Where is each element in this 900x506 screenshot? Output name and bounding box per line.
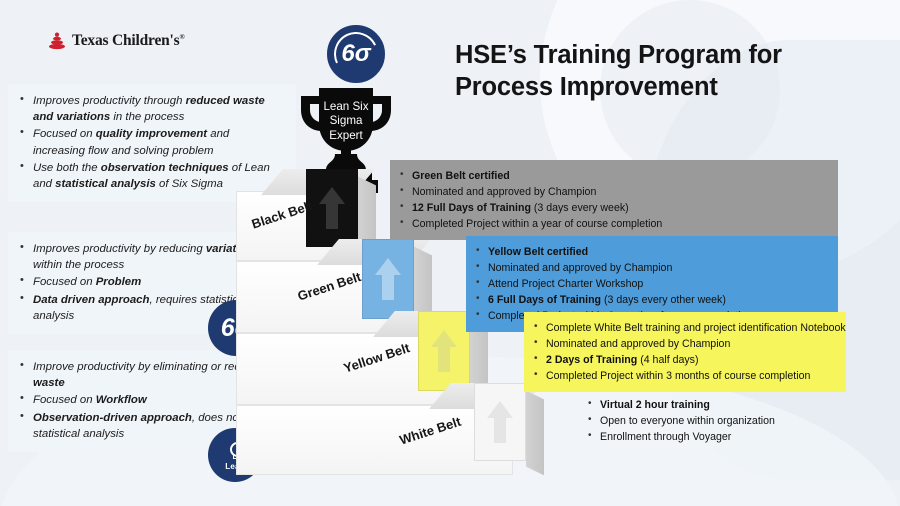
requirement-item: Complete White Belt training and project…	[532, 320, 836, 336]
cycle-arrow-icon	[328, 26, 384, 82]
requirements-black-belt: Green Belt certifiedNominated and approv…	[390, 160, 838, 240]
requirement-list: Complete White Belt training and project…	[532, 320, 836, 384]
requirement-item: Attend Project Charter Workshop	[474, 276, 828, 292]
stair-front-white	[474, 383, 526, 461]
requirement-list: Virtual 2 hour trainingOpen to everyone …	[586, 397, 830, 445]
info-bullet: Improves productivity through reduced wa…	[18, 93, 284, 125]
requirement-item: 2 Days of Training (4 half days)	[532, 352, 836, 368]
page-title: HSE’s Training Program for Process Impro…	[455, 40, 875, 103]
brand-logo-text: Texas Children's®	[72, 32, 185, 50]
arrow-up-icon	[431, 330, 457, 372]
stair-front-yellow	[418, 311, 470, 391]
requirement-item: Nominated and approved by Champion	[398, 184, 828, 200]
arrow-up-icon	[375, 258, 401, 300]
requirement-item: Completed Project within 3 months of cou…	[532, 368, 836, 384]
arrow-up-icon	[319, 187, 345, 229]
brand-logo: Texas Children's®	[47, 31, 185, 51]
requirement-item: Green Belt certified	[398, 168, 828, 184]
slide-canvas: Texas Children's® HSE’s Training Program…	[0, 0, 900, 506]
arrow-up-icon	[487, 401, 513, 443]
requirement-item: 6 Full Days of Training (3 days every ot…	[474, 292, 828, 308]
texas-childrens-mark-icon	[47, 31, 67, 51]
requirement-item: Nominated and approved by Champion	[532, 336, 836, 352]
requirement-item: Yellow Belt certified	[474, 244, 828, 260]
requirement-item: Open to everyone within organization	[586, 413, 830, 429]
stair-front-black	[306, 169, 358, 247]
stair-front-green	[362, 239, 414, 319]
requirement-item: Nominated and approved by Champion	[474, 260, 828, 276]
requirement-item: 12 Full Days of Training (3 days every w…	[398, 200, 828, 216]
requirement-list: Green Belt certifiedNominated and approv…	[398, 168, 828, 232]
requirement-item: Virtual 2 hour training	[586, 397, 830, 413]
six-sigma-badge-top: 6σ	[324, 22, 388, 86]
requirements-white-belt: Virtual 2 hour trainingOpen to everyone …	[578, 389, 840, 453]
requirements-yellow-belt: Complete White Belt training and project…	[524, 312, 846, 392]
info-bullet: Focused on quality improvement and incre…	[18, 126, 284, 158]
requirement-item: Completed Project within a year of cours…	[398, 216, 828, 232]
requirement-item: Enrollment through Voyager	[586, 429, 830, 445]
